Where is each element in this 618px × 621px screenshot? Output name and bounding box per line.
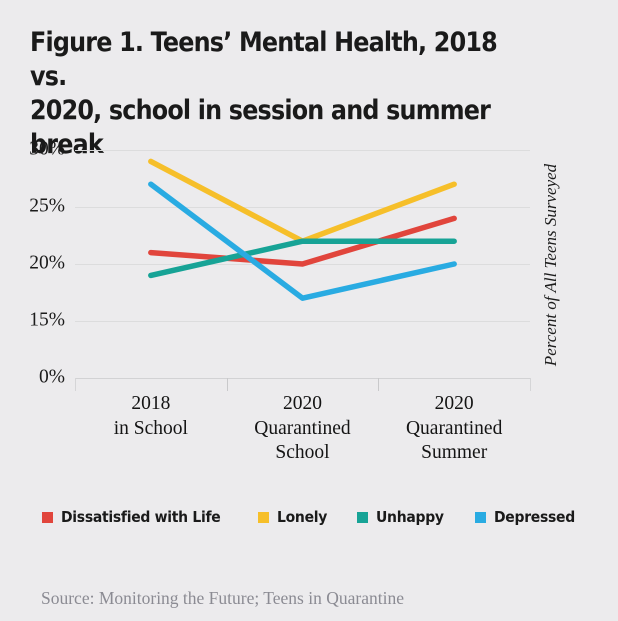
figure-title: Figure 1. Teens’ Mental Health, 2018 vs.… <box>30 26 539 162</box>
legend-swatch-icon <box>258 512 269 523</box>
plot-area: 30%25%20%15%0% <box>75 150 530 378</box>
series-lines <box>75 150 530 378</box>
x-axis-category-label: 2018 in School <box>66 392 236 441</box>
legend-swatch-icon <box>475 512 486 523</box>
y-axis-tick-label: 15% <box>0 310 65 332</box>
x-axis-category-label: 2020 Quarantined Summer <box>369 392 539 466</box>
x-axis-tick <box>227 378 228 391</box>
legend-swatch-icon <box>42 512 53 523</box>
legend-label: Unhappy <box>376 508 444 526</box>
source-note: Source: Monitoring the Future; Teens in … <box>41 588 404 609</box>
figure-container: Figure 1. Teens’ Mental Health, 2018 vs.… <box>0 0 618 621</box>
x-axis-labels: 2018 in School2020 Quarantined School202… <box>75 392 530 472</box>
x-axis-tick <box>530 378 531 391</box>
x-axis-category-label: 2020 Quarantined School <box>218 392 388 466</box>
y-axis-title-text: Percent of All Teens Surveyed <box>541 164 561 366</box>
legend-item[interactable]: Unhappy <box>357 508 449 526</box>
legend-item[interactable]: Depressed <box>475 508 581 526</box>
x-axis-tick <box>75 378 76 391</box>
legend-label: Depressed <box>494 508 575 526</box>
y-axis-tick-label: 25% <box>0 196 65 218</box>
y-axis-tick-label: 0% <box>0 367 65 389</box>
x-axis-tick <box>378 378 379 391</box>
y-axis-tick-label: 30% <box>0 139 65 161</box>
chart-legend: Dissatisfied with LifeLonelyUnhappyDepre… <box>42 508 607 526</box>
legend-label: Lonely <box>277 508 327 526</box>
legend-item[interactable]: Dissatisfied with Life <box>42 508 232 526</box>
y-axis-tick-label: 20% <box>0 253 65 275</box>
gridline <box>75 378 530 379</box>
legend-swatch-icon <box>357 512 368 523</box>
y-axis-title: Percent of All Teens Surveyed <box>540 140 562 390</box>
legend-label: Dissatisfied with Life <box>61 508 220 526</box>
legend-item[interactable]: Lonely <box>258 508 331 526</box>
